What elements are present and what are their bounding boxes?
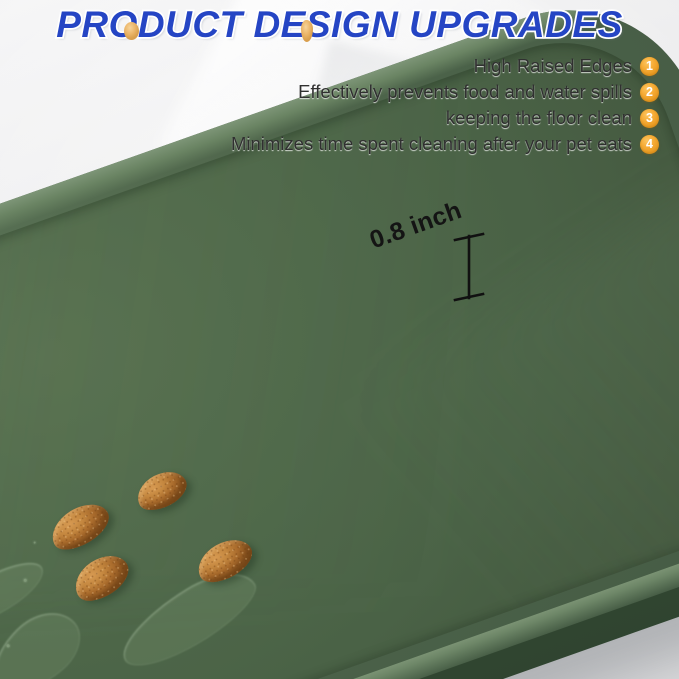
feature-number-badge: 4	[640, 135, 659, 154]
product-image: 0.8 inch PRODUCT DESIGN UPGRADES PRODUCT…	[0, 0, 679, 679]
feature-item: High Raised Edges1	[99, 54, 659, 78]
feature-item-label: keeping the floor clean	[446, 107, 632, 129]
feature-list: High Raised Edges1Effectively prevents f…	[99, 54, 659, 158]
feature-number-badge: 3	[640, 109, 659, 128]
water-puddle	[0, 598, 92, 679]
feature-item: Effectively prevents food and water spil…	[99, 80, 659, 104]
title-kibble-dot-icon	[124, 22, 139, 40]
feature-item: keeping the floor clean3	[99, 106, 659, 130]
dimension-line-icon	[452, 232, 488, 304]
feature-item-label: High Raised Edges	[474, 55, 632, 77]
page-title: PRODUCT DESIGN UPGRADES	[0, 4, 679, 46]
feature-item-label: Effectively prevents food and water spil…	[298, 81, 632, 103]
feature-item: Minimizes time spent cleaning after your…	[99, 132, 659, 156]
feature-number-badge: 1	[640, 57, 659, 76]
feature-item-label: Minimizes time spent cleaning after your…	[231, 133, 632, 155]
feature-number-badge: 2	[640, 83, 659, 102]
